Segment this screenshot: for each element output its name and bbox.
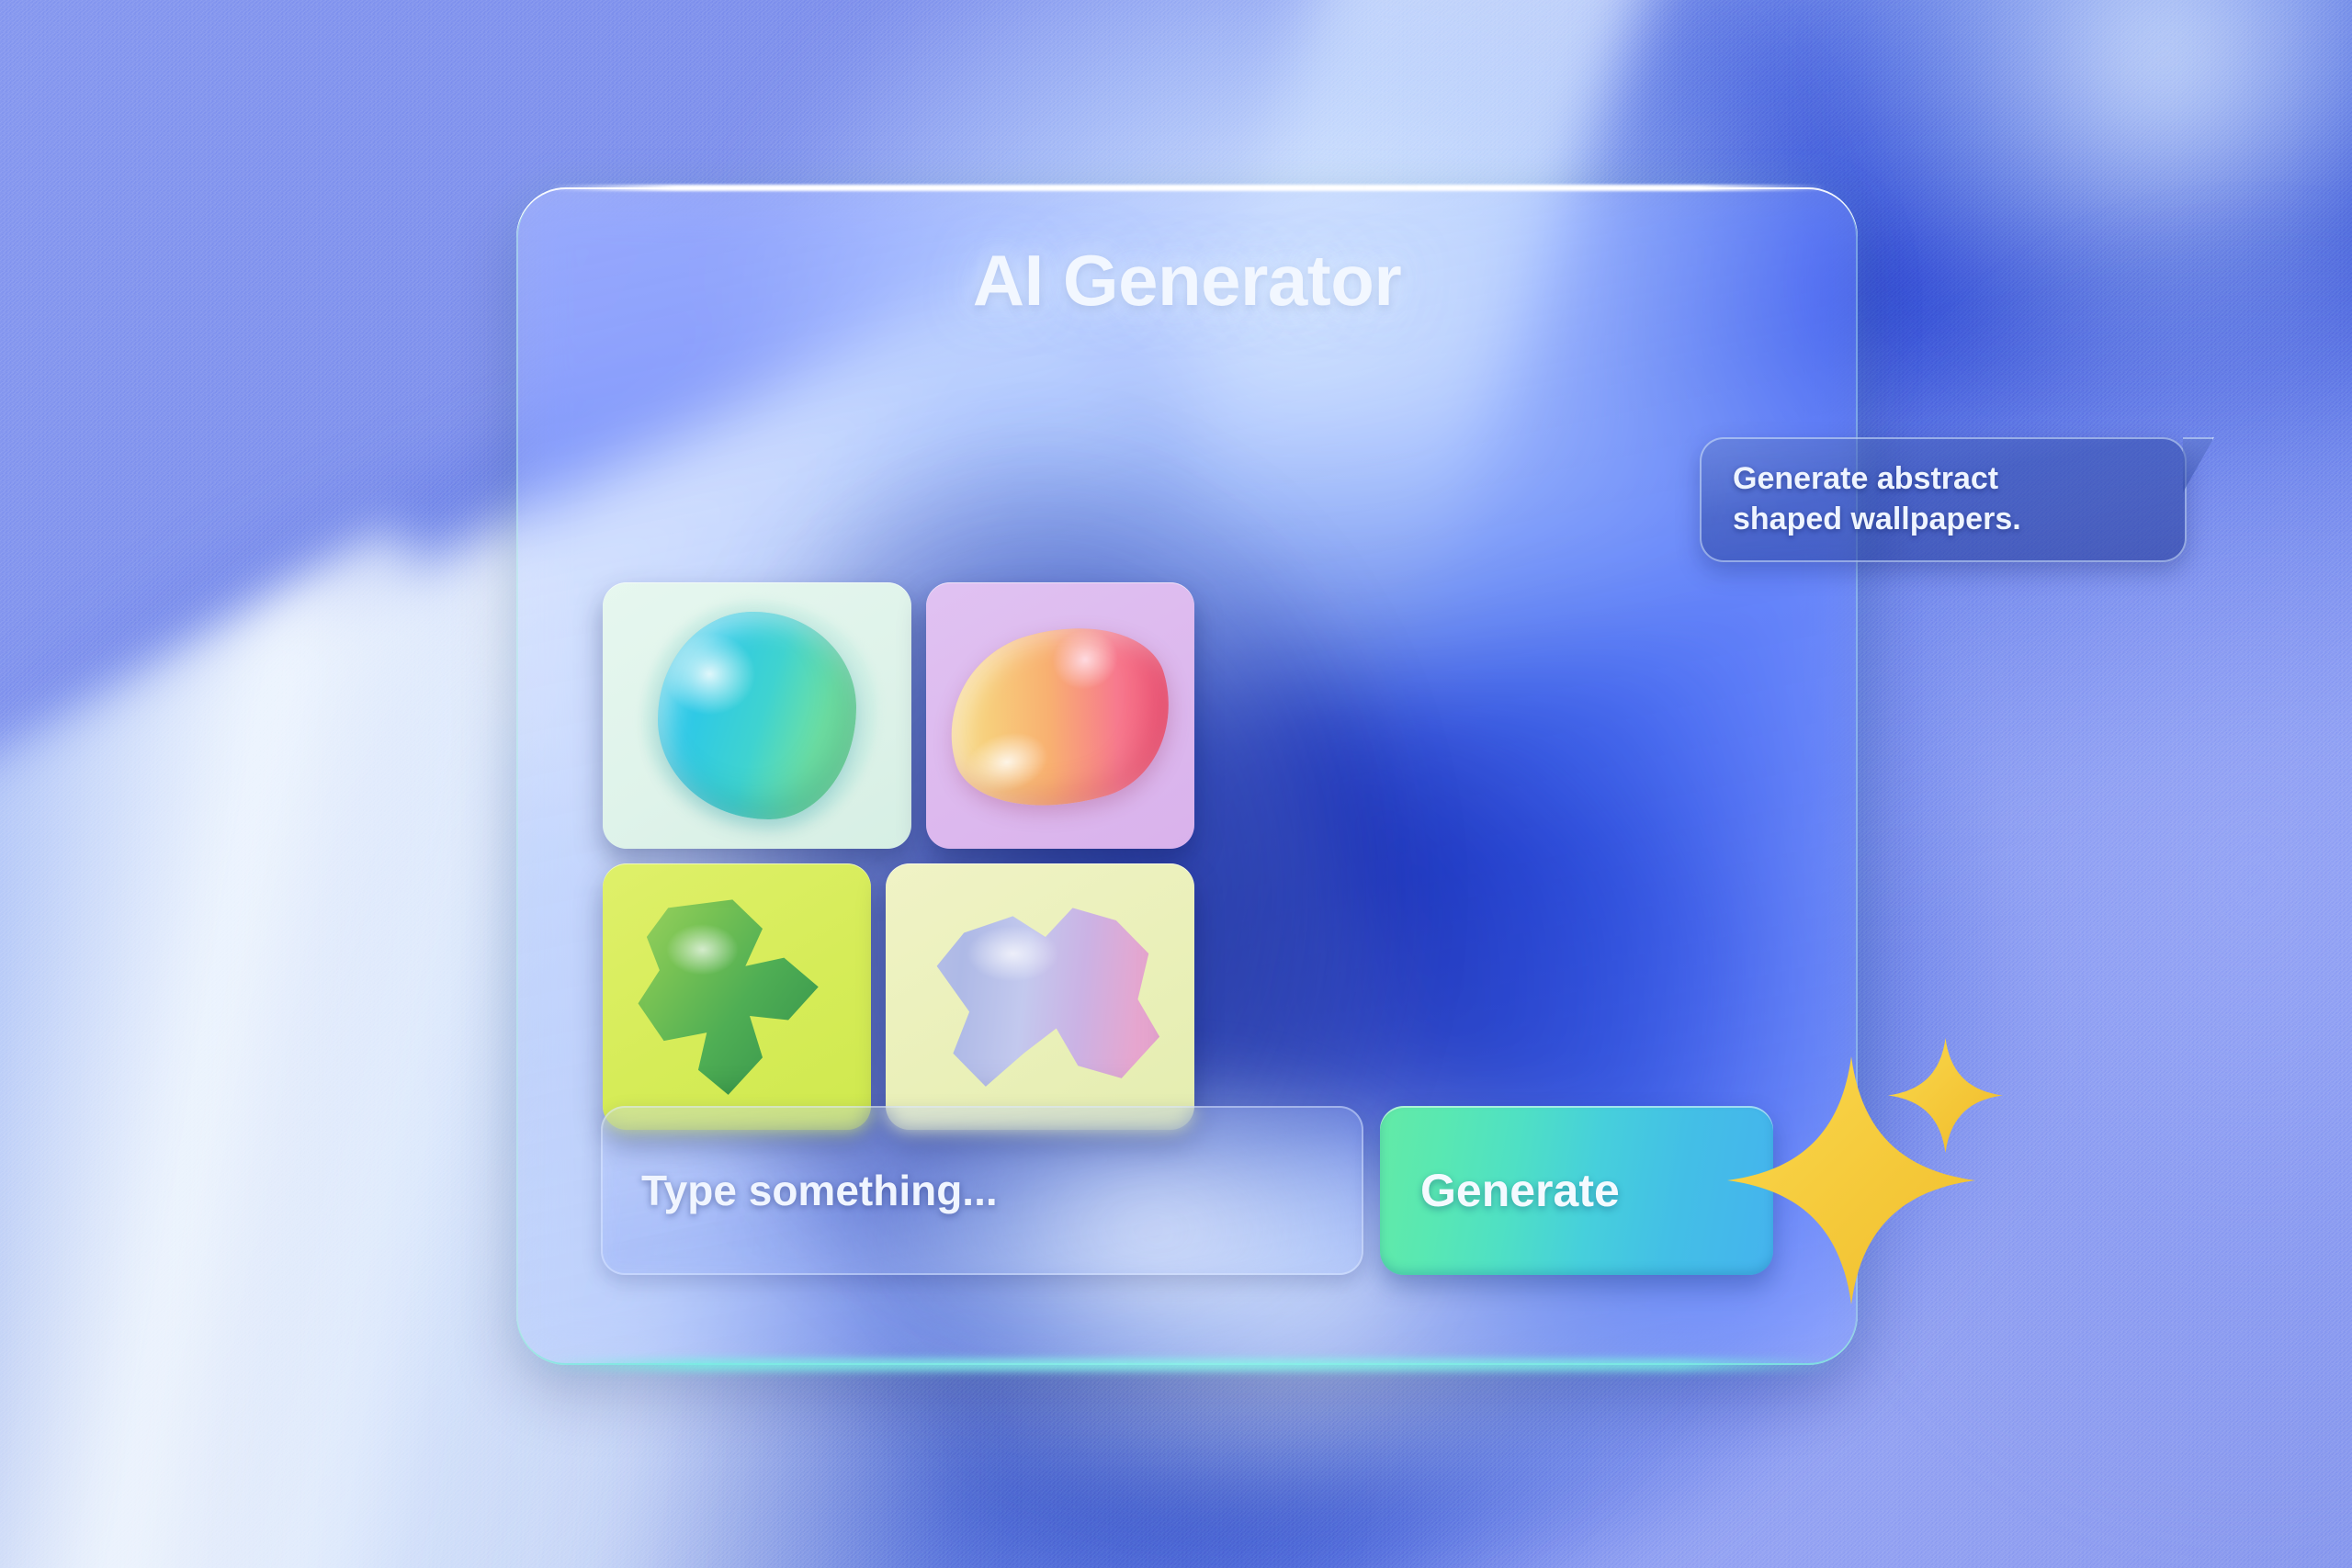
generate-button-label: Generate: [1380, 1164, 1620, 1217]
page-title: AI Generator: [516, 239, 1858, 322]
sparkle-icon: [1888, 1038, 2003, 1153]
prompt-input[interactable]: Type something...: [601, 1106, 1363, 1275]
chat-bubble: Generate abstract shaped wallpapers.: [1700, 437, 2187, 562]
wallpaper-thumbnail[interactable]: [926, 582, 1194, 849]
periwinkle-pink-blob-icon: [904, 896, 1176, 1103]
orange-pink-blob-icon: [928, 603, 1193, 834]
chat-bubble-text: Generate abstract shaped wallpapers.: [1700, 459, 2045, 539]
ai-generator-card: AI Generator Generate abstract shaped wa…: [516, 187, 1858, 1365]
generate-button[interactable]: Generate: [1380, 1106, 1773, 1275]
cyan-green-blob-icon: [658, 612, 855, 819]
generated-wallpaper-grid: [603, 582, 1191, 1069]
wallpaper-thumbnail[interactable]: [886, 863, 1194, 1130]
wallpaper-thumbnail[interactable]: [603, 582, 911, 849]
prompt-input-placeholder: Type something...: [601, 1166, 998, 1215]
wallpaper-thumbnail[interactable]: [603, 863, 871, 1130]
green-wave-blob-icon: [629, 896, 844, 1103]
